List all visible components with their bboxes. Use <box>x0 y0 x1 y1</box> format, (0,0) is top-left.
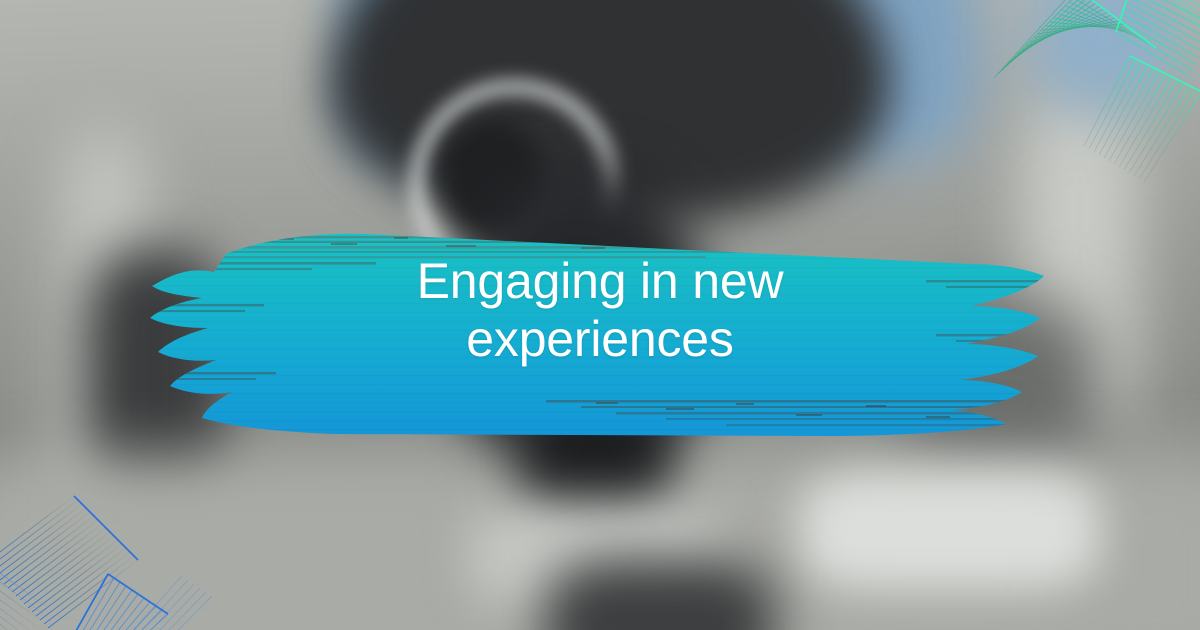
page-title: Engaging in new experiences <box>200 252 1000 368</box>
background-blur-shape <box>545 560 775 630</box>
background-blur-shape <box>800 470 1100 590</box>
og-image-canvas: Engaging in new experiences <box>0 0 1200 630</box>
background-blur-shape <box>1030 0 1180 110</box>
